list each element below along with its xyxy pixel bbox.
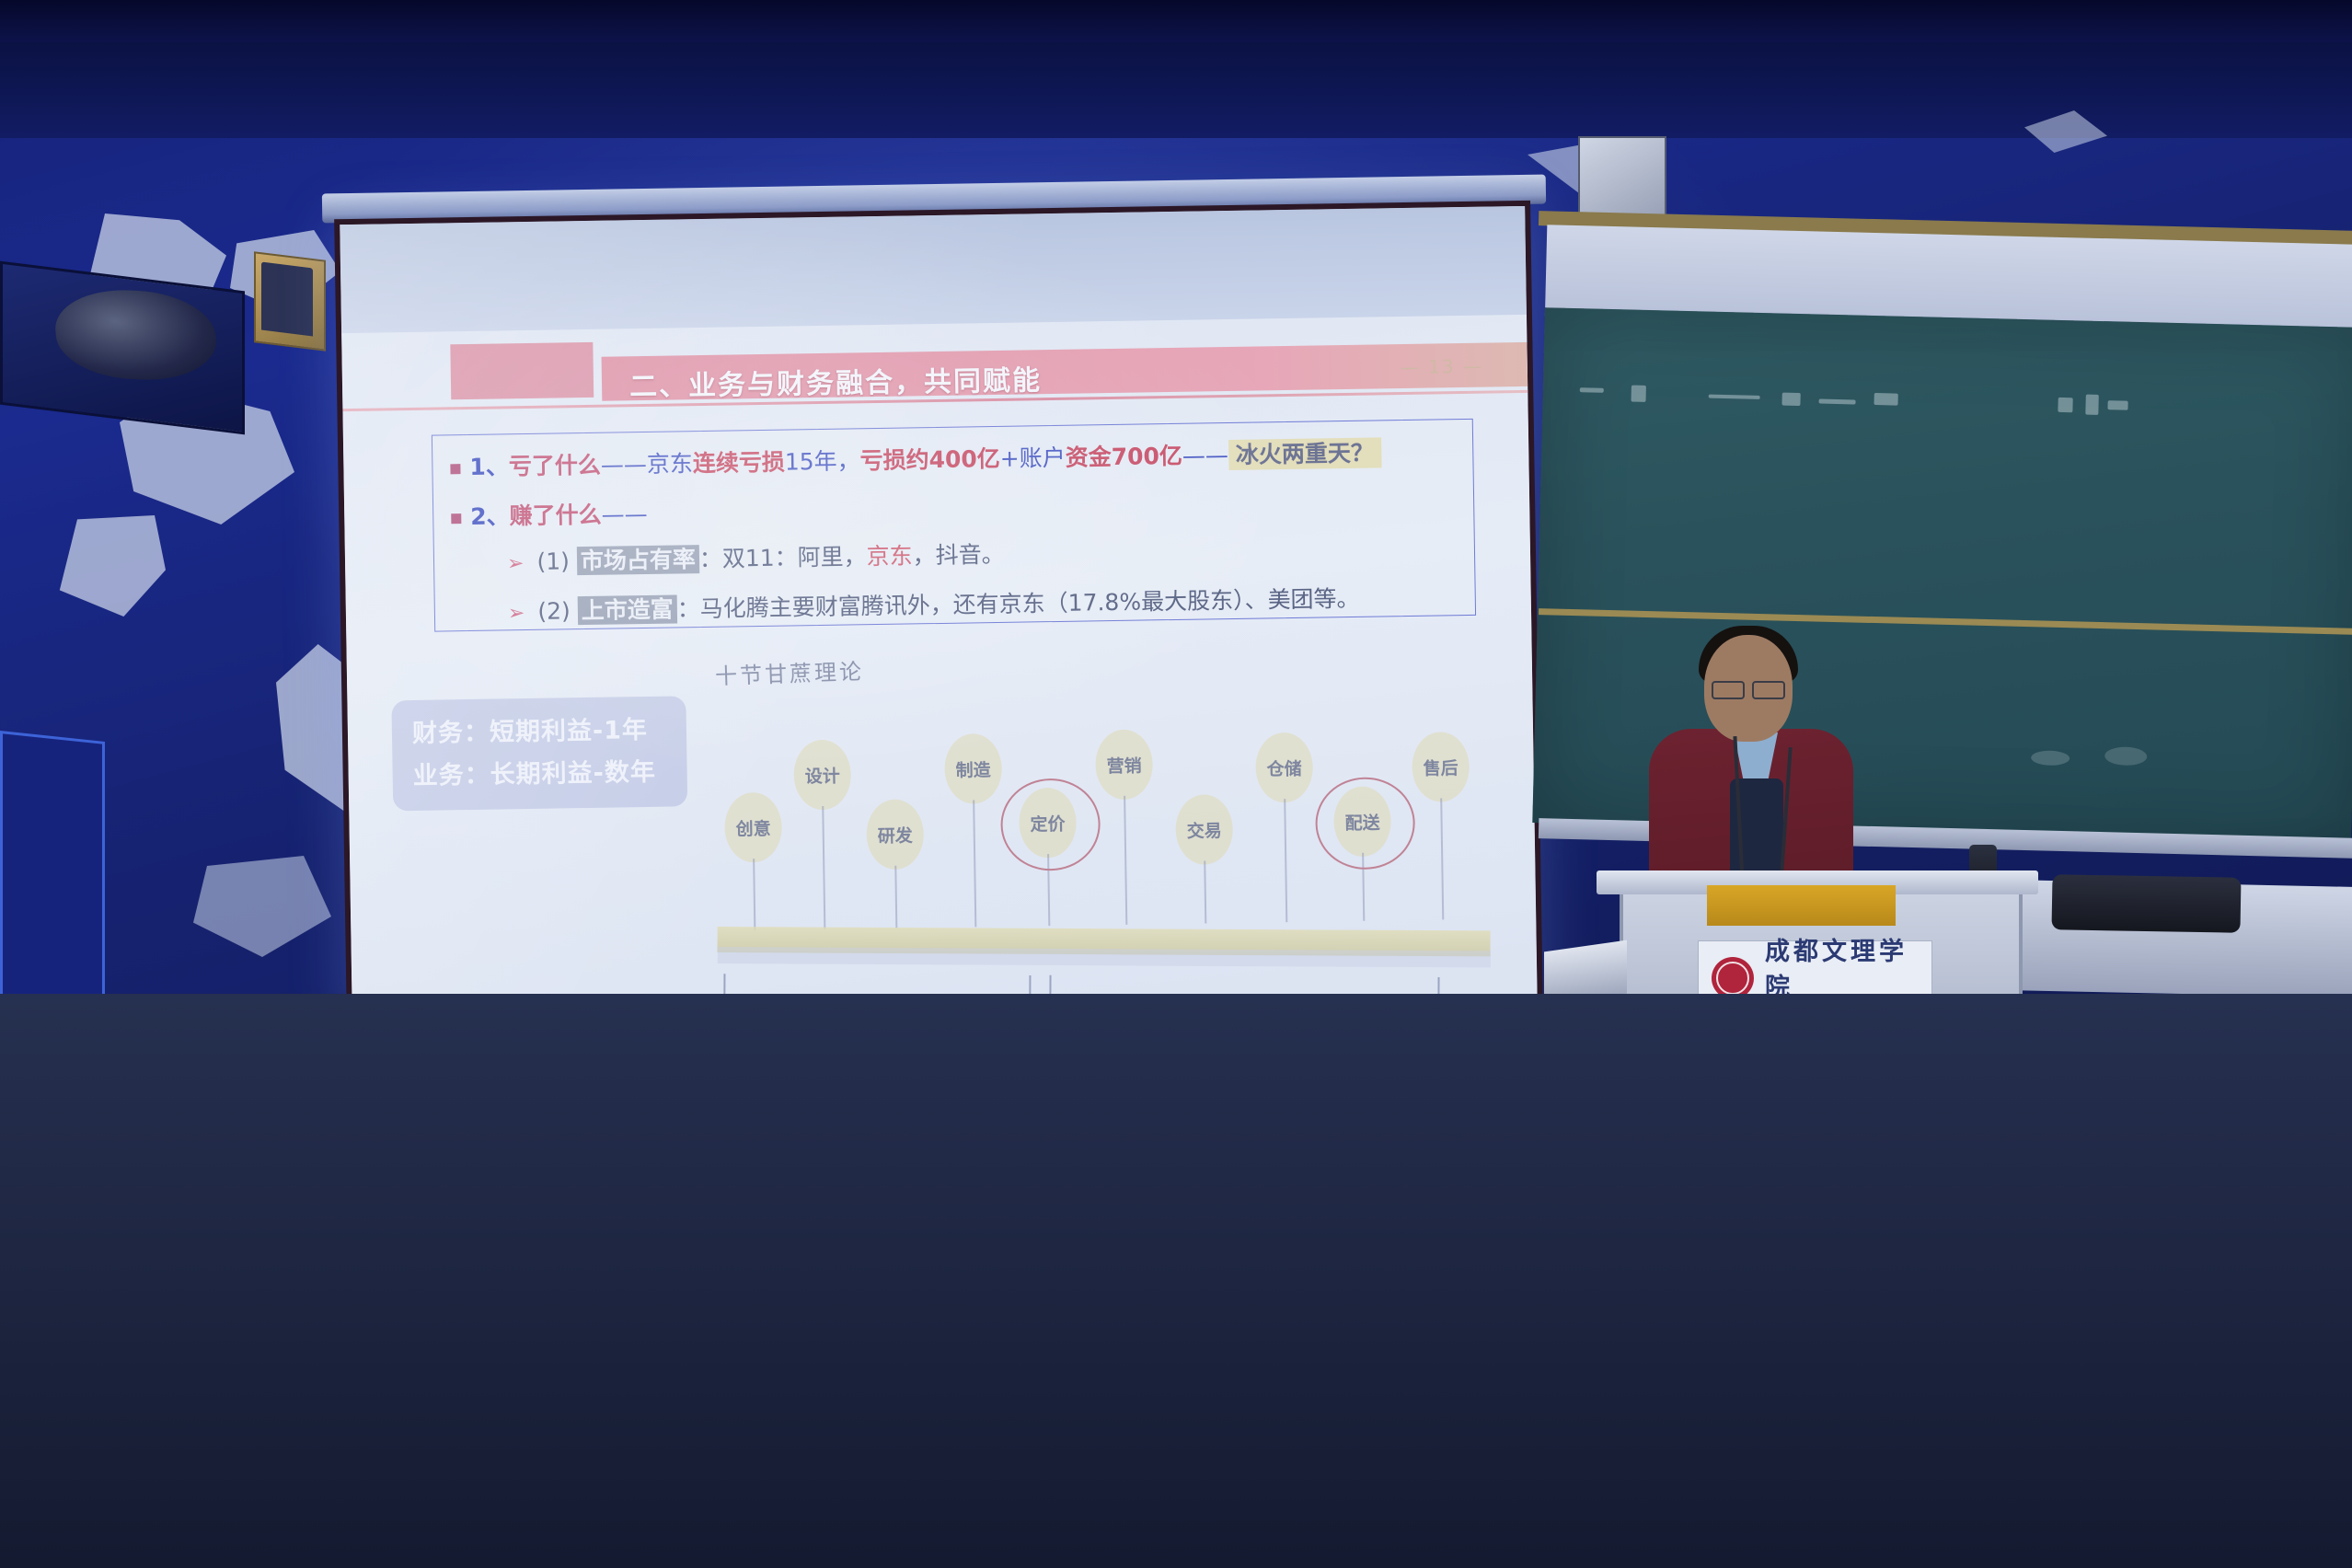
value-chain-node-2: 设计 [793, 740, 851, 811]
slide-page-number: — 13 — [1400, 355, 1483, 378]
bullet-1-seg-0: 京东 [647, 450, 693, 478]
bullet-1-seg-1: 连续亏损 [693, 449, 785, 478]
value-chain-node-1: 创意 [724, 792, 782, 863]
value-chain-stem [1440, 798, 1444, 919]
slide-title: 二、业务与财务融合，共同赋能 [629, 357, 1043, 404]
bullet-line-2: 2、赚了什么—— [451, 496, 648, 532]
slide-top-margin [340, 206, 1527, 333]
value-chain-stem [1124, 796, 1127, 925]
slide-header-block [450, 342, 594, 399]
floor [0, 994, 2352, 1568]
value-chain-node-3: 研发 [866, 799, 924, 870]
sub-bullet-2-key: 上市造富 [577, 594, 676, 625]
sub-bullet-1-index: (1) [536, 548, 570, 575]
projection-screen: 二、业务与财务融合，共同赋能 — 13 — 1、亏了什么——京东连续亏损15年，… [340, 206, 1537, 1023]
bullet-square-icon [450, 464, 460, 474]
bullet-1-seg-3: 亏损约400亿 [859, 445, 1000, 474]
sub-bullet-1-key: 市场占有率 [577, 545, 699, 575]
podium-accent-panel [1707, 885, 1896, 926]
sub-bullet-1-colon: ： [699, 546, 722, 572]
sub-bullet-1-text-b: 京东 [866, 542, 912, 570]
value-chain-stem [822, 806, 825, 929]
bullet-1-seg-2: 15年， [785, 447, 860, 475]
bullet-1-highlight: 冰火两重天？ [1228, 437, 1382, 470]
value-chain-node-6: 营销 [1095, 729, 1153, 800]
eyeglasses-icon [1712, 681, 1785, 696]
value-chain-stem [1284, 799, 1287, 922]
bullet-2-number: 2、 [470, 502, 510, 530]
value-chain-stem [973, 800, 976, 927]
value-chain-node-7: 交易 [1175, 794, 1233, 865]
chevron-right-icon: ➢ [508, 602, 525, 625]
projection-screen-frame: 二、业务与财务融合，共同赋能 — 13 — 1、亏了什么——京东连续亏损15年，… [334, 201, 1543, 1029]
wall-plaque-insert [261, 262, 313, 337]
value-chain-node-8: 仓储 [1255, 732, 1313, 803]
sub-bullet-2-colon: ： [676, 595, 699, 622]
chevron-right-icon: ➢ [507, 552, 525, 575]
bullet-2-topic: 赚了什么 [509, 502, 601, 530]
value-chain-stem [894, 866, 897, 928]
presentation-slide: 二、业务与财务融合，共同赋能 — 13 — 1、亏了什么——京东连续亏损15年，… [341, 315, 1538, 1023]
bullet-1-seg-5: 资金700亿 [1066, 443, 1183, 471]
info-box-line-2: 业务：长期利益-数年 [412, 752, 656, 791]
info-box-line-1: 财务：短期利益-1年 [412, 709, 649, 749]
bullet-2-dash: —— [601, 501, 647, 528]
bullet-square-icon [451, 513, 461, 524]
laptop-bag [2051, 874, 2241, 933]
sub-bullet-2-index: (2) [537, 597, 571, 625]
lecture-hall-scene: 二、业务与财务融合，共同赋能 — 13 — 1、亏了什么——京东连续亏损15年，… [0, 0, 2352, 1568]
bullet-1-seg-4: +账户 [1000, 444, 1066, 472]
value-chain-node-4: 制造 [944, 733, 1002, 804]
value-chain-stem [753, 859, 755, 930]
highlight-ring-配送 [1315, 777, 1416, 870]
highlight-ring-定价 [1000, 778, 1101, 871]
sub-bullet-1-text-c: ，抖音。 [912, 541, 1004, 570]
value-chain-node-10: 售后 [1412, 732, 1470, 802]
bullet-1-dash: —— [601, 451, 647, 478]
bullet-1-topic: 亏了什么 [509, 452, 601, 480]
ceiling-strip [0, 0, 2352, 42]
value-chain-stem [1204, 860, 1206, 923]
institution-name-cn: 成都文理学院 [1765, 931, 1931, 1003]
bullet-1-seg-6: —— [1182, 442, 1228, 469]
bullet-1-number: 1、 [469, 453, 509, 480]
sub-bullet-1-text-a: 双11：阿里， [722, 543, 867, 571]
